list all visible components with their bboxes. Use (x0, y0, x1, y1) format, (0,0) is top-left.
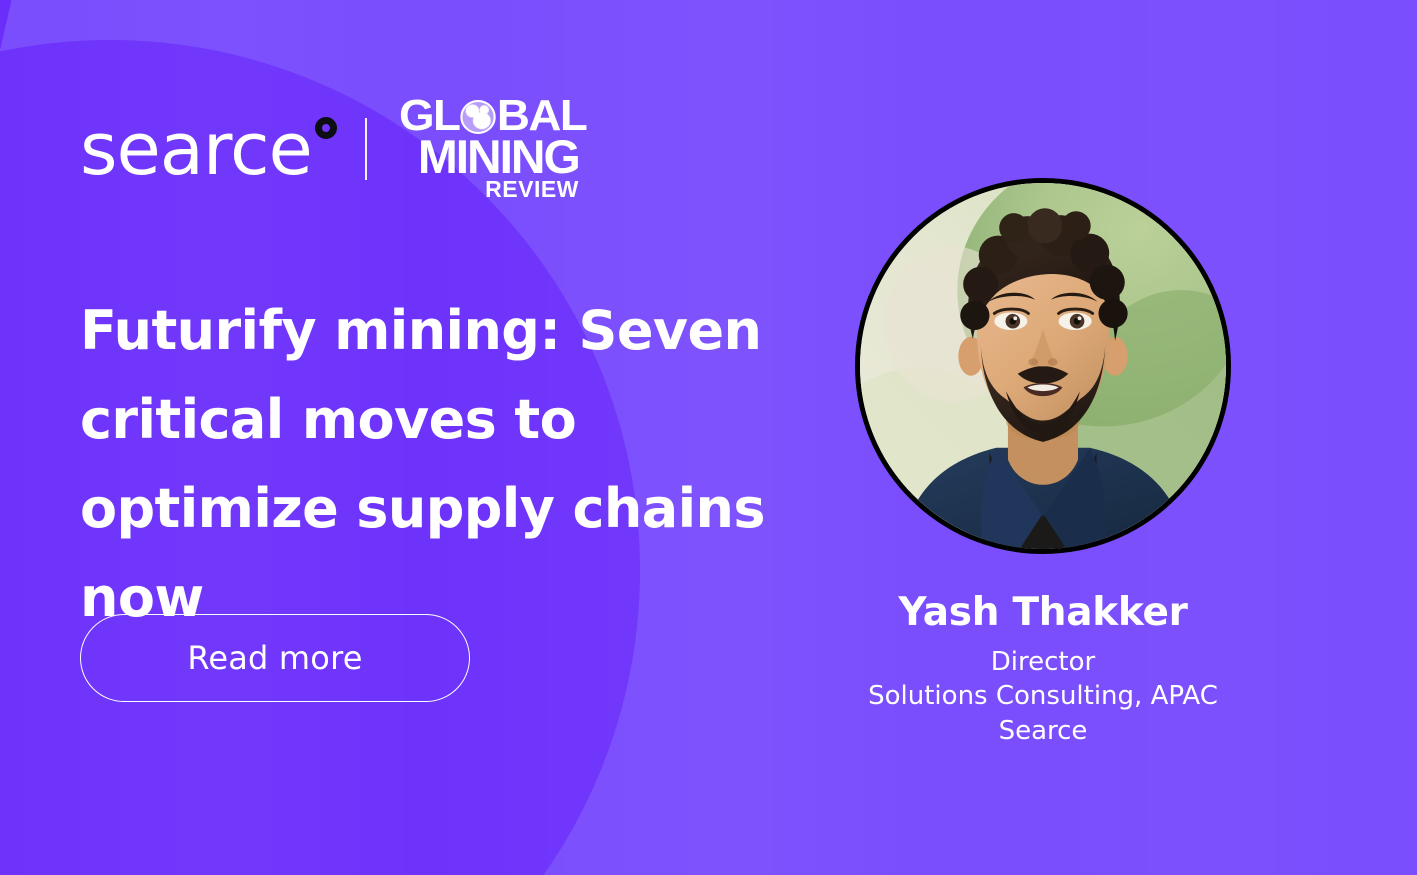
speaker-name: Yash Thakker (790, 592, 1296, 634)
searce-wordmark: searce (80, 113, 312, 185)
degree-ring-icon (315, 117, 337, 139)
speaker-details: Yash Thakker Director Solutions Consulti… (790, 592, 1296, 748)
gmr-line-review: REVIEW (485, 180, 579, 199)
logo-header: searce GL BAL MINING REVIEW (80, 98, 579, 200)
gmr-line-mining: MINING (418, 137, 579, 176)
speaker-title: Director (790, 645, 1296, 679)
speaker-meta: Director Solutions Consulting, APAC Sear… (790, 645, 1296, 748)
logo-divider (365, 118, 367, 180)
global-mining-review-logo[interactable]: GL BAL MINING REVIEW (399, 98, 579, 200)
headline: Futurify mining: Seven critical moves to… (80, 286, 800, 642)
speaker-department: Solutions Consulting, APAC (790, 679, 1296, 713)
marketing-banner: searce GL BAL MINING REVIEW Futurify min… (0, 0, 1417, 875)
speaker-avatar (855, 178, 1231, 554)
speaker-photo (860, 183, 1226, 549)
speaker-company: Searce (790, 714, 1296, 748)
searce-logo[interactable]: searce (80, 113, 337, 185)
read-more-button[interactable]: Read more (80, 614, 470, 702)
